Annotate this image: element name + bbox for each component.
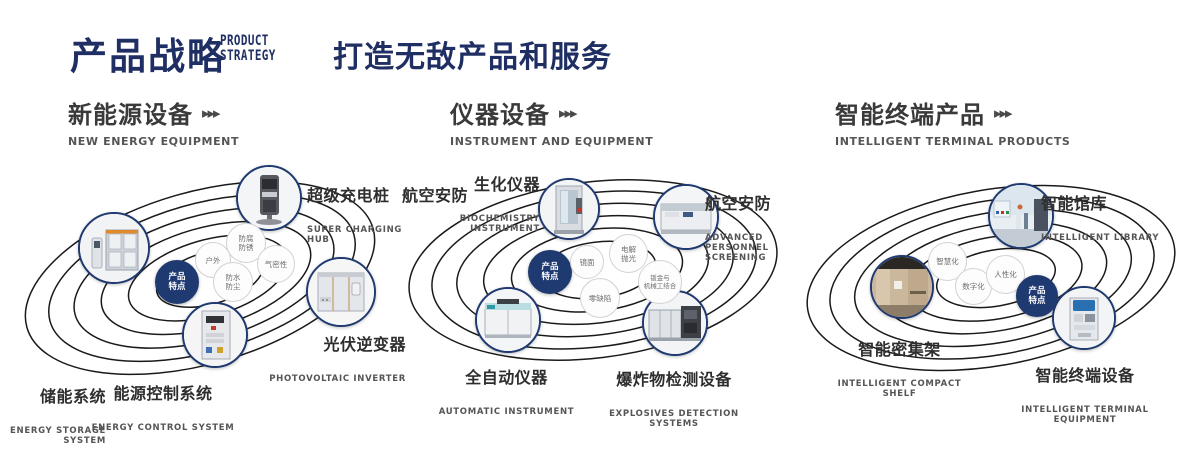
section-title-en: NEW ENERGY EQUIPMENT (68, 135, 239, 148)
caption-en: INTELLIGENT COMPACT SHELF (797, 379, 1002, 399)
masthead: 产品战略 PRODUCT STRATEGY 打造无敌产品和服务 (0, 0, 1200, 90)
caption-personnel-screening: 航空安防 ADVANCED PERSONNEL SCREENING (705, 172, 800, 281)
caption-cn: 智能馆库 (1041, 190, 1159, 214)
caption-en: EXPLOSIVES DETECTION SYSTEMS (585, 409, 763, 429)
section-title-cn-wrap: 仪器设备 ▸▸▸ (450, 95, 653, 130)
node-compact-shelf[interactable] (870, 255, 934, 319)
chevron-right-icon: ▸▸▸ (559, 104, 576, 122)
node-energy-storage[interactable] (78, 212, 150, 284)
caption-en: ADVANCED PERSONNEL SCREENING (705, 233, 800, 263)
page-title-cn: 产品战略 (70, 26, 226, 80)
node-biochemistry-instrument[interactable] (538, 178, 600, 240)
caption-energy-control-system: 能源控制系统 ENERGY CONTROL SYSTEM (72, 362, 254, 451)
diagram-panel-intelligent-terminal: 智能馆库 INTELLIGENT LIBRARY 智能密集架 INTELLIGE… (800, 150, 1200, 400)
feature-core-bubble: 产品 特点 (528, 250, 572, 294)
caption-cn: 智能密集架 (797, 336, 1002, 360)
section-heading-intelligent-terminal: 智能终端产品 ▸▸▸ INTELLIGENT TERMINAL PRODUCTS (835, 95, 1070, 148)
page-tagline: 打造无敌产品和服务 (333, 32, 612, 76)
feature-bubble-mirror: 镜面 (570, 245, 604, 279)
charging-pile-icon (238, 167, 300, 229)
caption-en: INTELLIGENT LIBRARY (1041, 233, 1159, 243)
section-title-cn: 新能源设备 (68, 95, 193, 130)
caption-compact-shelf: 智能密集架 INTELLIGENT COMPACT SHELF (797, 318, 1002, 417)
section-heading-instrument: 仪器设备 ▸▸▸ INSTRUMENT AND EQUIPMENT (450, 95, 653, 148)
caption-biochemistry-instrument: 生化仪器 BIOCHEMISTRY INSTRUMENT (380, 153, 540, 252)
caption-en: BIOCHEMISTRY INSTRUMENT (380, 214, 540, 234)
caption-cn: 爆炸物检测设备 (585, 366, 763, 390)
caption-cn: 全自动仪器 (419, 364, 594, 388)
feature-bubble-airtight: 气密性 (257, 245, 295, 283)
section-title-cn: 仪器设备 (450, 95, 550, 130)
node-super-charging-hub[interactable] (236, 165, 302, 231)
caption-en: AUTOMATIC INSTRUMENT (419, 407, 594, 417)
biochemistry-scanner-icon (540, 180, 598, 238)
caption-en: ENERGY CONTROL SYSTEM (72, 423, 254, 433)
caption-explosives-detector: 爆炸物检测设备 EXPLOSIVES DETECTION SYSTEMS (585, 348, 763, 447)
feature-bubble-zero-defect: 零缺陷 (580, 278, 620, 318)
section-heading-new-energy: 新能源设备 ▸▸▸ NEW ENERGY EQUIPMENT (68, 95, 239, 148)
caption-cn: 能源控制系统 (72, 380, 254, 404)
node-terminal-kiosk[interactable] (1052, 286, 1116, 350)
control-cabinet-icon (184, 304, 246, 366)
section-title-cn-wrap: 智能终端产品 ▸▸▸ (835, 95, 1070, 130)
automatic-analyzer-icon (477, 289, 539, 351)
section-title-cn-wrap: 新能源设备 ▸▸▸ (68, 95, 239, 130)
caption-cn: 智能终端设备 (990, 362, 1180, 386)
feature-core-bubble: 产品 特点 (155, 260, 199, 304)
compact-shelf-icon (872, 257, 932, 317)
section-title-en: INTELLIGENT TERMINAL PRODUCTS (835, 135, 1070, 148)
diagram-panel-instrument: 航空安防 生化仪器 BIOCHEMISTRY INSTRUMENT 航空安防 A… (400, 150, 800, 400)
caption-cn: 航空安防 (705, 190, 800, 214)
node-automatic-instrument[interactable] (475, 287, 541, 353)
section-title-cn: 智能终端产品 (835, 95, 985, 130)
caption-en: INTELLIGENT TERMINAL EQUIPMENT (990, 405, 1180, 425)
node-energy-control-system[interactable] (182, 302, 248, 368)
feature-bubble-sheetmetal: 钣金与 机械工结合 (638, 260, 682, 304)
chevron-right-icon: ▸▸▸ (994, 104, 1011, 122)
feature-core-bubble: 产品 特点 (1016, 275, 1058, 317)
chevron-right-icon: ▸▸▸ (202, 104, 219, 122)
feature-bubble-waterproof: 防水 防尘 (213, 262, 253, 302)
energy-storage-cabinet-icon (80, 214, 148, 282)
caption-cn: 生化仪器 (380, 171, 540, 195)
page-title-en: PRODUCT STRATEGY (220, 34, 276, 64)
caption-terminal-kiosk: 智能终端设备 INTELLIGENT TERMINAL EQUIPMENT (990, 344, 1180, 443)
caption-smart-library: 智能馆库 INTELLIGENT LIBRARY (1041, 172, 1159, 261)
terminal-kiosk-icon (1054, 288, 1114, 348)
section-title-en: INSTRUMENT AND EQUIPMENT (450, 135, 653, 148)
